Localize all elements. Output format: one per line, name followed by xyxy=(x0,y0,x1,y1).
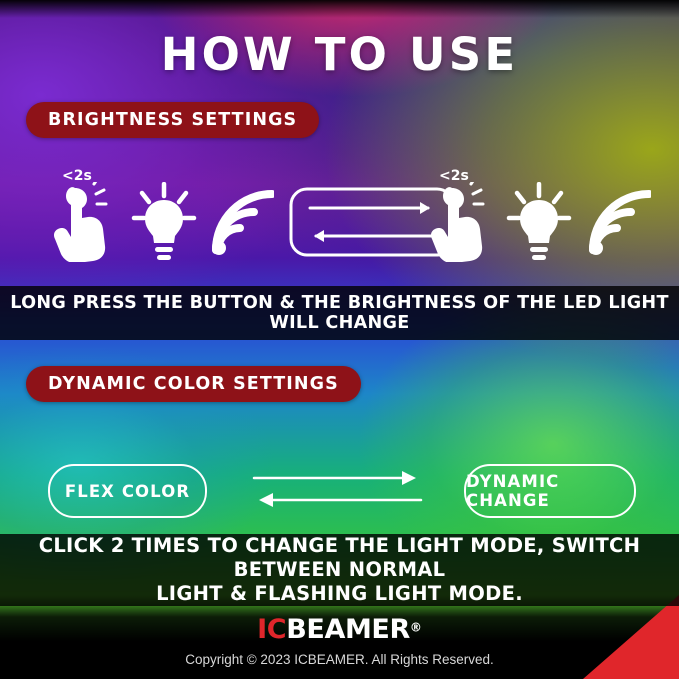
brand-prefix: IC xyxy=(257,614,286,645)
light-bulb-icon xyxy=(505,182,573,267)
dynamic-caption-line1: CLICK 2 TIMES TO CHANGE THE LIGHT MODE, … xyxy=(22,534,657,582)
signal-waves-icon xyxy=(210,188,274,265)
light-bulb-icon xyxy=(130,182,198,267)
mode-switch-arrows xyxy=(250,464,425,514)
dynamic-caption-bar: CLICK 2 TIMES TO CHANGE THE LIGHT MODE, … xyxy=(0,534,679,606)
brightness-icon-row: <2s xyxy=(26,160,653,264)
hand-press-icon xyxy=(50,182,112,267)
mode-box-dynamic-change: DYNAMIC CHANGE xyxy=(464,464,636,518)
registered-trademark-icon: ® xyxy=(410,621,422,635)
poster-root: HOW TO USE BRIGHTNESS SETTINGS <2s xyxy=(0,0,679,679)
page-title: HOW TO USE xyxy=(0,28,679,81)
background-top-shade xyxy=(0,0,679,18)
copyright-text: Copyright © 2023 ICBEAMER. All Rights Re… xyxy=(0,652,679,667)
section-pill-dynamic-color: DYNAMIC COLOR SETTINGS xyxy=(26,366,361,402)
mode-box-flex-color: FLEX COLOR xyxy=(48,464,207,518)
arrow-left-head xyxy=(259,493,273,507)
section-pill-brightness: BRIGHTNESS SETTINGS xyxy=(26,102,319,138)
dynamic-caption-line2: LIGHT & FLASHING LIGHT MODE. xyxy=(22,582,657,606)
brand-suffix: BEAMER xyxy=(286,614,410,645)
brand-logo: ICBEAMER® xyxy=(0,614,679,645)
signal-waves-icon xyxy=(587,188,651,265)
hand-press-icon xyxy=(427,182,489,267)
brightness-caption-bar: LONG PRESS THE BUTTON & THE BRIGHTNESS O… xyxy=(0,286,679,340)
arrow-right-head xyxy=(402,471,416,485)
